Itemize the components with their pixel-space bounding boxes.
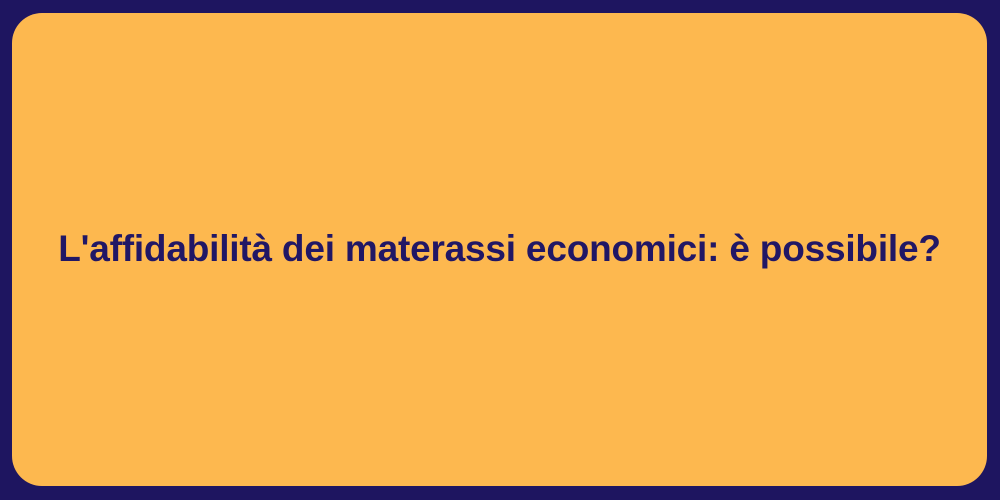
banner-panel: L'affidabilità dei materassi economici: …: [12, 13, 987, 486]
banner-title: L'affidabilità dei materassi economici: …: [58, 226, 941, 272]
banner-frame: L'affidabilità dei materassi economici: …: [0, 0, 1000, 500]
